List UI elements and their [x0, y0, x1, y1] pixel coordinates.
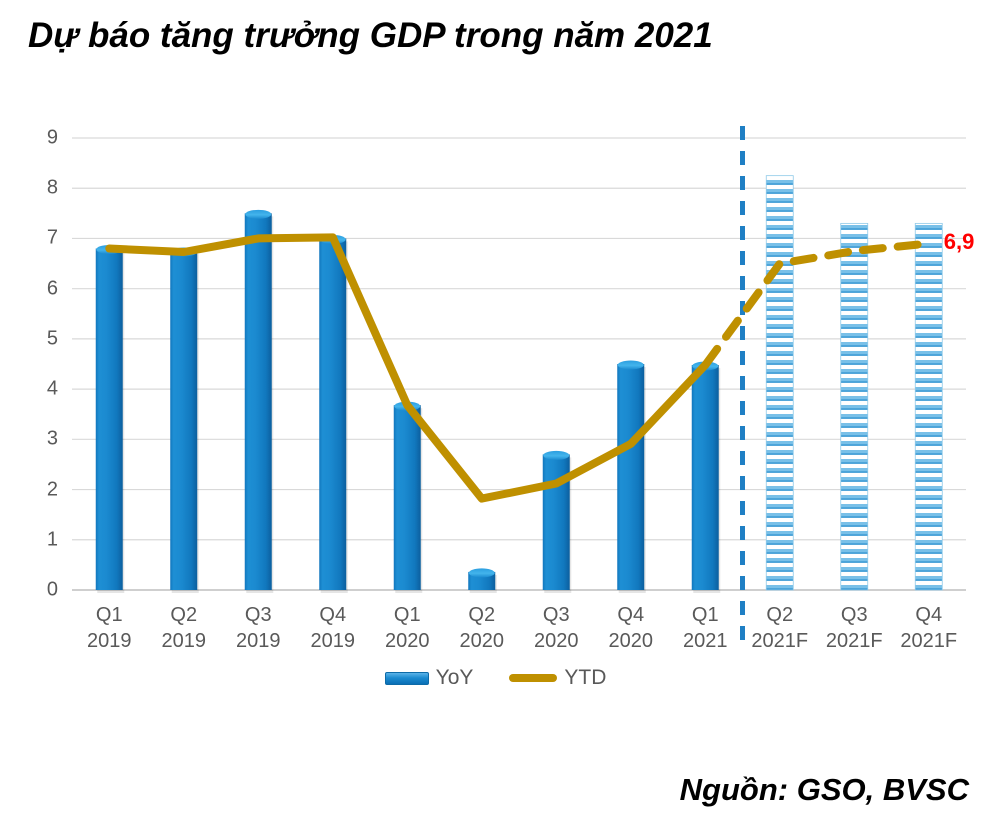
y-tick-label: 7 — [28, 227, 58, 250]
x-tick-line: 2021F — [741, 628, 819, 654]
x-tick-label: Q12019 — [70, 602, 148, 654]
y-tick-label: 3 — [28, 428, 58, 451]
bar-swatch-icon — [385, 672, 429, 685]
x-tick-label: Q22019 — [145, 602, 223, 654]
x-tick-line: Q4 — [294, 602, 372, 628]
x-tick-line: 2021F — [890, 628, 968, 654]
x-tick-line: 2020 — [517, 628, 595, 654]
source-note: Nguồn: GSO, BVSC — [680, 772, 969, 808]
x-tick-label: Q22020 — [443, 602, 521, 654]
legend-label-ytd: YTD — [564, 666, 606, 690]
x-tick-line: 2020 — [592, 628, 670, 654]
x-tick-line: 2019 — [219, 628, 297, 654]
bar-forecast — [766, 176, 793, 590]
y-tick-label: 8 — [28, 177, 58, 200]
x-tick-line: Q4 — [890, 602, 968, 628]
x-tick-label: Q12020 — [368, 602, 446, 654]
x-tick-line: 2019 — [70, 628, 148, 654]
series-end-value-label: 6,9 — [944, 229, 975, 255]
x-tick-line: Q4 — [592, 602, 670, 628]
line-swatch-icon — [509, 674, 557, 682]
x-tick-line: Q2 — [741, 602, 819, 628]
chart-legend: YoY YTD — [0, 666, 991, 690]
legend-label-yoy: YoY — [436, 666, 474, 690]
x-tick-label: Q12021 — [666, 602, 744, 654]
bar-forecast — [841, 223, 868, 590]
legend-entry-yoy[interactable]: YoY — [385, 666, 474, 690]
x-tick-line: Q2 — [145, 602, 223, 628]
x-tick-line: Q3 — [517, 602, 595, 628]
x-tick-line: 2019 — [294, 628, 372, 654]
y-tick-label: 2 — [28, 478, 58, 501]
y-tick-label: 4 — [28, 378, 58, 401]
y-tick-label: 1 — [28, 528, 58, 551]
x-tick-label: Q42019 — [294, 602, 372, 654]
ytd-line-forecast — [705, 244, 929, 366]
x-tick-label: Q32019 — [219, 602, 297, 654]
bar-actual — [617, 364, 644, 590]
x-tick-line: 2021 — [666, 628, 744, 654]
x-tick-line: Q1 — [70, 602, 148, 628]
x-tick-line: Q2 — [443, 602, 521, 628]
x-tick-label: Q42021F — [890, 602, 968, 654]
y-tick-label: 5 — [28, 327, 58, 350]
x-tick-line: 2020 — [368, 628, 446, 654]
y-tick-label: 6 — [28, 277, 58, 300]
bar-actual — [394, 405, 421, 590]
bar-forecast — [915, 223, 942, 590]
x-tick-label: Q42020 — [592, 602, 670, 654]
bar-actual — [170, 251, 197, 590]
x-tick-line: 2019 — [145, 628, 223, 654]
x-tick-label: Q32021F — [815, 602, 893, 654]
bar-actual — [319, 238, 346, 590]
y-tick-label: 9 — [28, 127, 58, 150]
gdp-growth-chart: 0123456789 Q12019Q22019Q32019Q42019Q1202… — [0, 0, 991, 823]
x-tick-label: Q32020 — [517, 602, 595, 654]
y-tick-label: 0 — [28, 579, 58, 602]
bar-actual — [245, 213, 272, 590]
gridlines — [72, 138, 966, 590]
x-tick-line: 2021F — [815, 628, 893, 654]
x-tick-label: Q22021F — [741, 602, 819, 654]
bar-actual — [96, 248, 123, 590]
chart-canvas — [0, 0, 991, 823]
bar-actual — [692, 365, 719, 590]
x-tick-line: Q3 — [815, 602, 893, 628]
x-tick-line: Q3 — [219, 602, 297, 628]
x-tick-line: 2020 — [443, 628, 521, 654]
legend-entry-ytd[interactable]: YTD — [509, 666, 606, 690]
x-tick-line: Q1 — [368, 602, 446, 628]
line-series-ytd — [109, 237, 929, 498]
x-tick-line: Q1 — [666, 602, 744, 628]
